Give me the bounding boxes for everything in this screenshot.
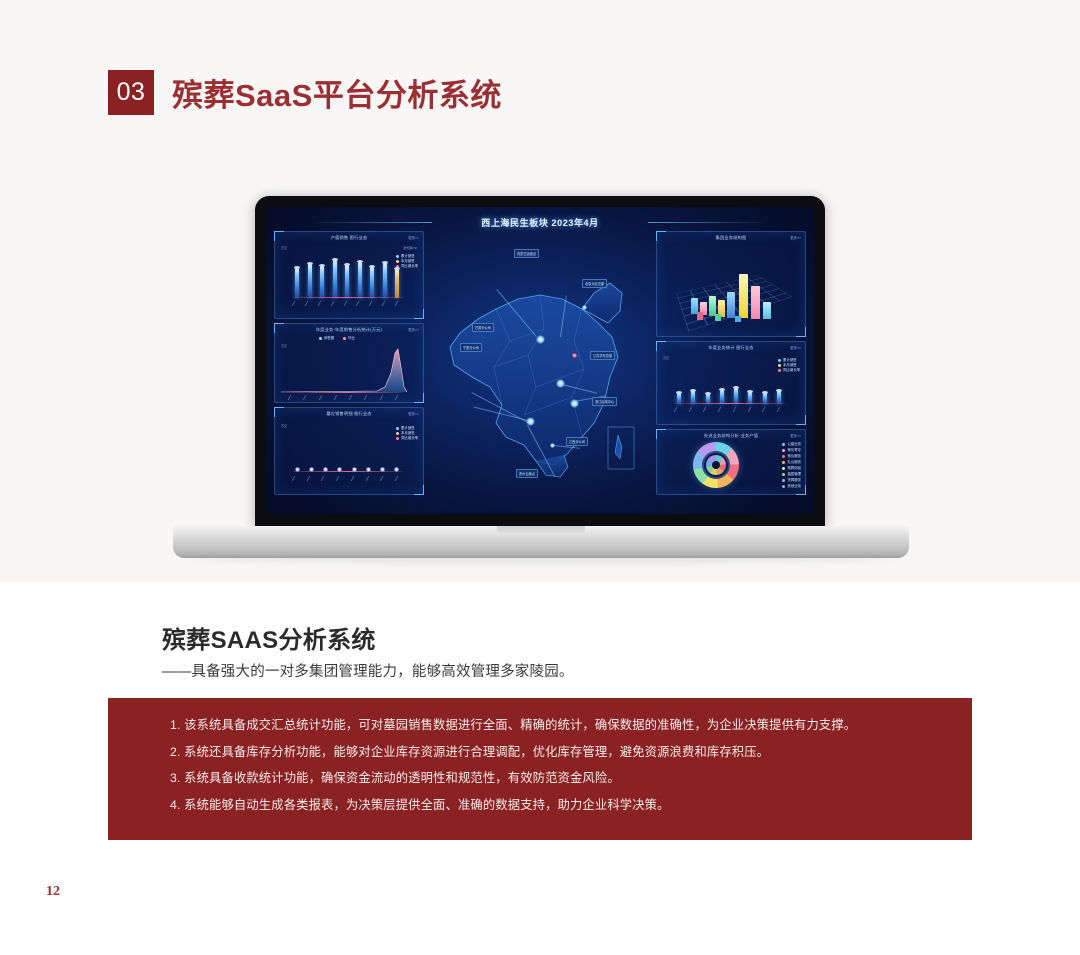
bar bbox=[333, 260, 337, 298]
china-distribution-map: 内蒙古运营点 北京大区总部 甘肃分公司 宁夏分公司 江苏华东总部 浙江区域中心 … bbox=[432, 237, 648, 493]
panel-more-link[interactable]: 更多>> bbox=[790, 345, 801, 350]
map-outline bbox=[432, 237, 648, 493]
legend-item: 公墓业务 bbox=[787, 442, 801, 446]
map-marker-label[interactable]: 甘肃分公司 bbox=[472, 323, 494, 332]
bar bbox=[734, 388, 738, 404]
tick bbox=[292, 476, 302, 481]
legend-item: 本月销售 bbox=[783, 363, 797, 367]
tick bbox=[364, 395, 374, 400]
dashboard-screen: 西上海民生板块 2023年4月 产值销售 图行业态 更多>> 万元 增长率(%)… bbox=[266, 207, 814, 514]
legend-item: 累计销售 bbox=[783, 358, 797, 362]
map-marker-label[interactable]: 江苏华东总部 bbox=[590, 351, 615, 360]
tick bbox=[334, 395, 344, 400]
panel-title: 年度业务-年度销售分析统计(万元) bbox=[275, 327, 423, 333]
dashboard-title: 西上海民生板块 2023年4月 bbox=[266, 216, 814, 229]
tick bbox=[395, 301, 405, 306]
panel-title: 年度业务统计 图行业态 bbox=[657, 345, 805, 351]
bar bbox=[358, 262, 362, 298]
panel-mid-right: 年度业务统计 图行业态 更多>> 累计销售 本月销售 同比增长率 万元 bbox=[656, 341, 806, 425]
bar-3d bbox=[735, 316, 741, 322]
tick bbox=[343, 301, 353, 306]
x-tick-row bbox=[293, 476, 403, 481]
map-node[interactable] bbox=[582, 305, 587, 310]
laptop-mockup: 西上海民生板块 2023年4月 产值销售 图行业态 更多>> 万元 增长率(%)… bbox=[173, 196, 909, 558]
bar bbox=[295, 268, 299, 298]
panel-top-right: 集团业务结构图 更多>> bbox=[656, 231, 806, 337]
legend-item: 其他业务 bbox=[787, 484, 801, 488]
tick bbox=[318, 395, 328, 400]
panel-bottom-left: 墓位销售明细 图行业态 更多>> 累计销售 本月销售 同比增长率 万元 bbox=[274, 407, 424, 495]
panel-more-link[interactable]: 更多>> bbox=[790, 433, 801, 438]
tick bbox=[305, 301, 315, 306]
panel-more-link[interactable]: 更多>> bbox=[790, 235, 801, 240]
tick bbox=[732, 407, 742, 412]
tick bbox=[317, 301, 327, 306]
tick bbox=[350, 476, 360, 481]
tick bbox=[382, 301, 392, 306]
y-axis-label: 万元 bbox=[663, 356, 669, 360]
panel-more-link[interactable]: 更多>> bbox=[408, 411, 419, 416]
list-item: 3. 系统具备收款统计功能，确保资金流动的透明性和规范性，有效防范资金风险。 bbox=[170, 765, 948, 792]
tick bbox=[762, 407, 772, 412]
tick bbox=[336, 476, 346, 481]
list-item: 2. 系统还具备库存分析功能，能够对企业库存资源进行合理调配，优化库存管理，避免… bbox=[170, 739, 948, 766]
tick bbox=[292, 301, 302, 306]
legend-item: 环比 bbox=[348, 336, 355, 340]
y-axis-label: 万元 bbox=[281, 246, 287, 250]
tick bbox=[365, 476, 375, 481]
panel-legend: 销售额 环比 bbox=[319, 336, 355, 341]
area-chart bbox=[281, 347, 407, 393]
bar-baseline bbox=[293, 297, 403, 298]
x-tick-row bbox=[293, 301, 403, 306]
panel-legend: 累计销售 本月销售 同比增长率 bbox=[778, 358, 800, 374]
map-node[interactable] bbox=[536, 335, 545, 344]
page-number: 12 bbox=[46, 884, 60, 900]
list-item: 1. 该系统具备成交汇总统计功能，可对墓园销售数据进行全面、精确的统计，确保数据… bbox=[170, 712, 948, 739]
legend-item: 殡仪服务 bbox=[787, 454, 801, 458]
tick bbox=[369, 301, 379, 306]
map-marker-label[interactable]: 江西分公司 bbox=[566, 437, 588, 446]
tick bbox=[303, 395, 313, 400]
bar-3d bbox=[697, 312, 703, 320]
bar-3d bbox=[727, 292, 735, 318]
y2-axis-label: 增长率(%) bbox=[403, 246, 417, 250]
bar bbox=[308, 264, 312, 298]
tick bbox=[379, 395, 389, 400]
bar bbox=[383, 263, 387, 298]
bar-series bbox=[677, 388, 781, 404]
feature-list: 1. 该系统具备成交汇总统计功能，可对墓园销售数据进行全面、精确的统计，确保数据… bbox=[170, 712, 948, 818]
tick bbox=[349, 395, 359, 400]
feature-list-box: 1. 该系统具备成交汇总统计功能，可对墓园销售数据进行全面、精确的统计，确保数据… bbox=[108, 698, 972, 840]
bar-3d bbox=[709, 296, 716, 316]
tick bbox=[306, 476, 316, 481]
panel-title: 墓位销售明细 图行业态 bbox=[275, 411, 423, 417]
bar-3d bbox=[739, 274, 748, 318]
bar bbox=[320, 266, 324, 298]
tick bbox=[703, 407, 713, 412]
panel-title: 产值销售 图行业态 bbox=[275, 235, 423, 241]
panel-top-left: 产值销售 图行业态 更多>> 万元 增长率(%) 累计销售 本月销售 同比增长率 bbox=[274, 231, 424, 319]
legend-item: 同比增长率 bbox=[401, 436, 418, 440]
tick bbox=[747, 407, 757, 412]
content-subheading: ——具备强大的一对多集团管理能力，能够高效管理多家陵园。 bbox=[162, 660, 574, 681]
laptop-base bbox=[173, 526, 909, 558]
tick bbox=[288, 395, 298, 400]
panel-more-link[interactable]: 更多>> bbox=[408, 327, 419, 332]
tick bbox=[674, 407, 684, 412]
map-marker-label[interactable]: 北京大区总部 bbox=[582, 279, 607, 288]
bar bbox=[345, 265, 349, 298]
panel-title: 先进业务结构分析-业务产值 bbox=[657, 433, 805, 439]
section-header: 03 殡葬SaaS平台分析系统 bbox=[108, 70, 502, 115]
laptop-lid: 西上海民生板块 2023年4月 产值销售 图行业态 更多>> 万元 增长率(%)… bbox=[255, 196, 825, 528]
legend-item: 同比增长率 bbox=[401, 264, 418, 268]
legend-item: 丧葬服务 bbox=[787, 478, 801, 482]
bar-3d bbox=[763, 302, 771, 319]
tick bbox=[688, 407, 698, 412]
bar bbox=[395, 269, 399, 298]
tick bbox=[395, 395, 405, 400]
tick bbox=[380, 476, 390, 481]
panel-legend: 累计销售 本月销售 同比增长率 bbox=[396, 426, 418, 442]
map-marker-label[interactable]: 内蒙古运营点 bbox=[514, 249, 539, 258]
legend-item: 殡葬用品 bbox=[787, 466, 801, 470]
map-marker-label[interactable]: 贵州云南点 bbox=[516, 469, 538, 478]
map-marker-label[interactable]: 宁夏分公司 bbox=[460, 343, 482, 352]
bar-baseline bbox=[675, 403, 785, 404]
y-axis-label: 万元 bbox=[281, 424, 287, 428]
panel-bottom-right: 先进业务结构分析-业务产值 更多>> 公墓业务 骨灰寄存 殡仪服务 礼仪服务 殡… bbox=[656, 429, 806, 495]
chart-baseline bbox=[293, 471, 403, 472]
bar bbox=[720, 390, 724, 404]
legend-item: 骨灰寄存 bbox=[787, 448, 801, 452]
legend-item: 本月销售 bbox=[401, 431, 415, 435]
bar-3d bbox=[751, 286, 760, 319]
content-heading: 殡葬SAAS分析系统 bbox=[162, 620, 376, 655]
chart-baseline bbox=[289, 392, 403, 393]
legend-item: 累计销售 bbox=[401, 254, 415, 258]
chart-3d-bars bbox=[685, 272, 781, 326]
bar-series bbox=[295, 254, 399, 298]
tick bbox=[395, 476, 405, 481]
x-tick-row bbox=[675, 407, 785, 412]
list-item: 4. 系统能够自动生成各类报表，为决策层提供全面、准确的数据支持，助力企业科学决… bbox=[170, 792, 948, 819]
tick bbox=[718, 407, 728, 412]
legend-item: 累计销售 bbox=[401, 426, 415, 430]
legend-item: 同比增长率 bbox=[783, 368, 800, 372]
legend-item: 本月销售 bbox=[401, 259, 415, 263]
tick bbox=[777, 407, 787, 412]
legend-item: 礼仪服务 bbox=[787, 460, 801, 464]
x-tick-row bbox=[289, 395, 403, 400]
panel-title: 集团业务结构图 bbox=[657, 235, 805, 241]
legend-item: 销售额 bbox=[324, 336, 334, 340]
tick bbox=[330, 301, 340, 306]
map-marker-label[interactable]: 浙江区域中心 bbox=[592, 397, 617, 406]
tick bbox=[321, 476, 331, 481]
section-number-badge: 03 bbox=[108, 70, 154, 115]
bar bbox=[370, 267, 374, 298]
map-node[interactable] bbox=[572, 353, 577, 358]
tick bbox=[356, 301, 366, 306]
legend-item: 墓园管理 bbox=[787, 472, 801, 476]
panel-mid-left: 年度业务-年度销售分析统计(万元) 更多>> 销售额 环比 万元 bbox=[274, 323, 424, 403]
panel-more-link[interactable]: 更多>> bbox=[408, 235, 419, 240]
panel-legend: 公墓业务 骨灰寄存 殡仪服务 礼仪服务 殡葬用品 墓园管理 丧葬服务 其他业务 bbox=[782, 441, 801, 489]
page-title: 殡葬SaaS平台分析系统 bbox=[172, 70, 502, 115]
donut-core bbox=[712, 461, 720, 469]
bar-3d bbox=[715, 314, 721, 321]
